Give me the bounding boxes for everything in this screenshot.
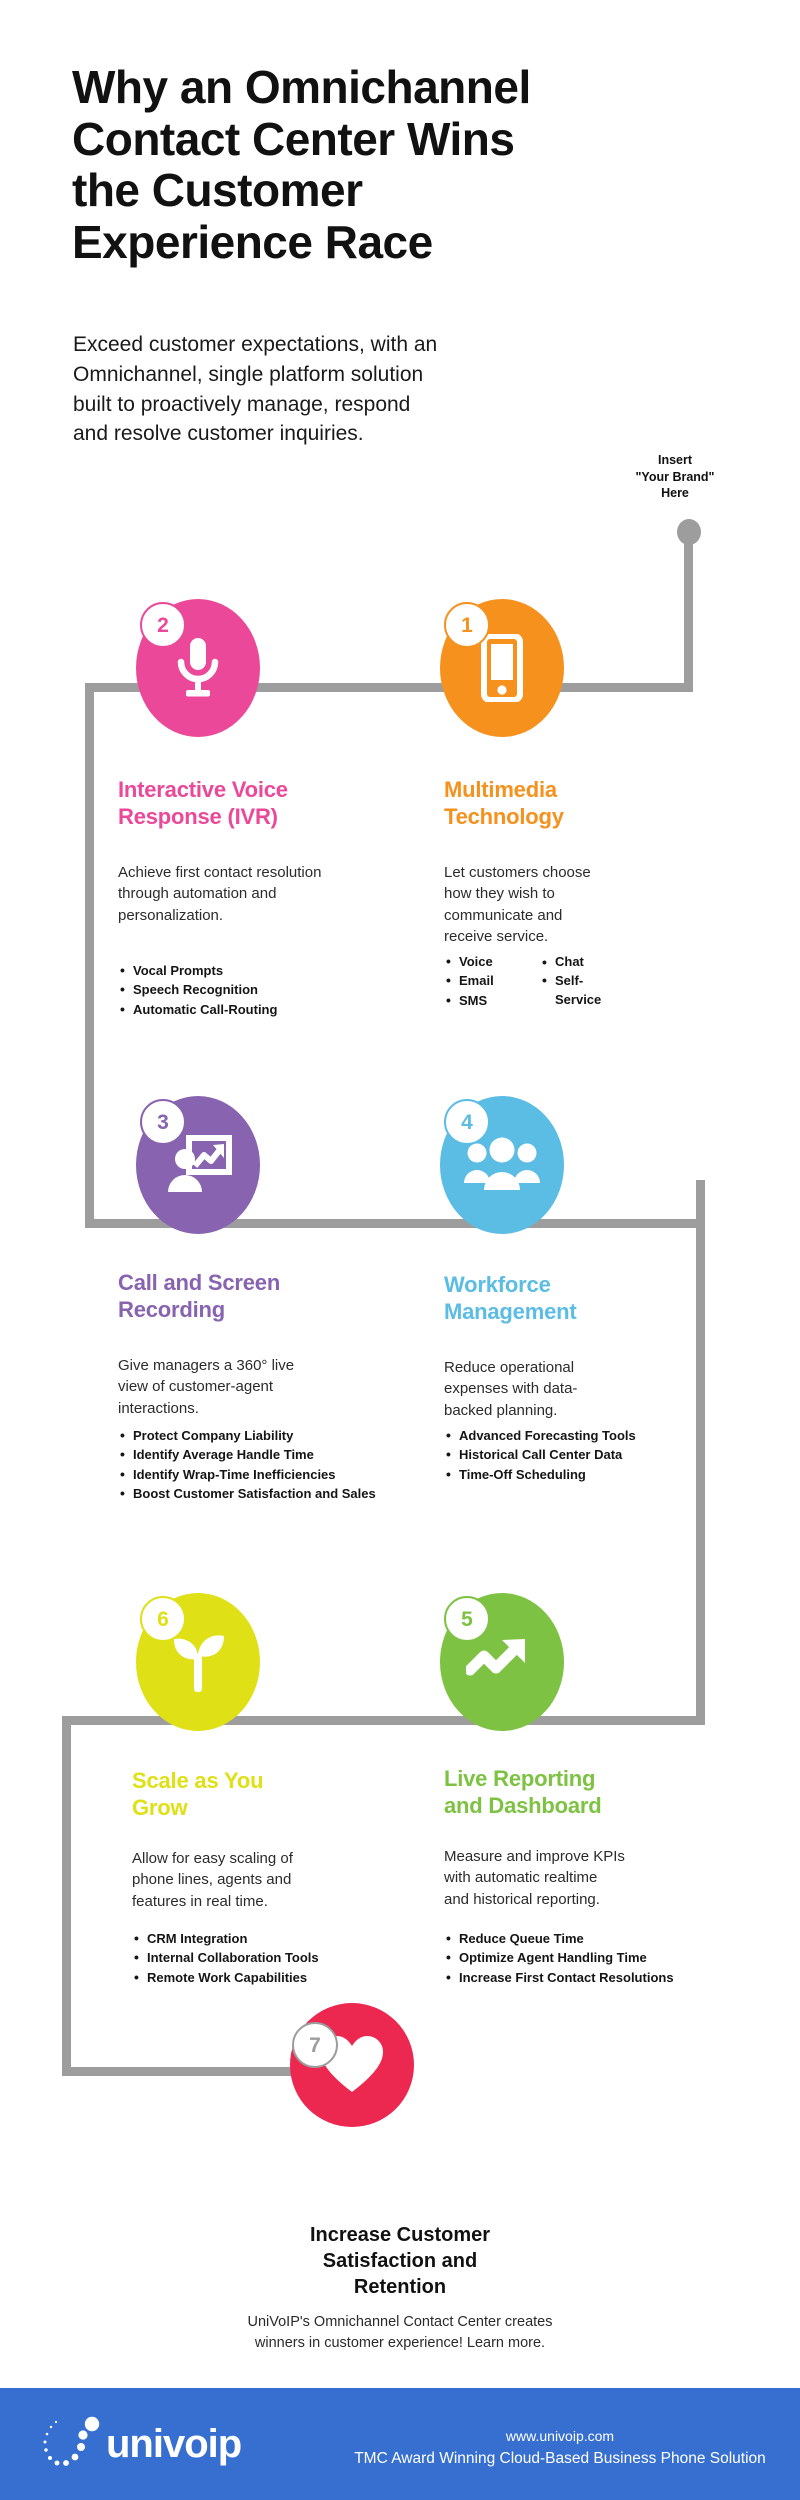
step-number-3: 3 [157, 1112, 169, 1133]
step-body-ivr: Achieve first contact resolution through… [118, 862, 388, 926]
step-badge-1: 1 [444, 602, 490, 648]
list-item: Internal Collaboration Tools [132, 1949, 382, 1967]
list-item: Email [444, 972, 528, 990]
step-badge-3: 3 [140, 1099, 186, 1145]
connector-left-vertical-2 [62, 1716, 71, 2076]
mobile-phone-icon [480, 634, 524, 702]
list-item: Optimize Agent Handling Time [444, 1949, 694, 1967]
step-title-workforce: Workforce Management [444, 1272, 684, 1326]
univoip-logo[interactable]: univoip [42, 2414, 241, 2474]
step-title-multimedia: Multimedia Technology [444, 777, 684, 831]
connector-row3-horizontal [62, 1716, 705, 1725]
step-title-ivr: Interactive Voice Response (IVR) [118, 777, 378, 831]
step-badge-6: 6 [140, 1596, 186, 1642]
step-number-7: 7 [309, 2035, 321, 2056]
step-title-reporting: Live Reporting and Dashboard [444, 1766, 694, 1820]
step-bullets-recording: Protect Company Liability Identify Avera… [118, 1427, 378, 1505]
people-group-icon [463, 1137, 541, 1193]
list-item: Historical Call Center Data [444, 1446, 704, 1464]
list-item: Chat [540, 953, 624, 971]
step-number-6: 6 [157, 1609, 169, 1630]
step-number-1: 1 [461, 615, 473, 636]
microphone-icon [170, 635, 226, 701]
list-item: Self-Service [540, 972, 624, 1009]
list-item: Reduce Queue Time [444, 1930, 694, 1948]
step-number-2: 2 [157, 615, 169, 636]
step-body-workforce: Reduce operational expenses with data- b… [444, 1357, 644, 1421]
final-title: Increase Customer Satisfaction and Reten… [220, 2222, 580, 2300]
step-badge-2: 2 [140, 602, 186, 648]
list-item: Speech Recognition [118, 981, 388, 999]
list-item: Time-Off Scheduling [444, 1466, 704, 1484]
footer-tagline: TMC Award Winning Cloud-Based Business P… [340, 2447, 780, 2470]
step-body-scale: Allow for easy scaling of phone lines, a… [132, 1848, 362, 1912]
connector-brand-vertical [684, 532, 693, 692]
final-badge-7: 7 [292, 2022, 338, 2068]
list-item: Automatic Call-Routing [118, 1001, 388, 1019]
step-number-5: 5 [461, 1609, 473, 1630]
step-number-4: 4 [461, 1112, 473, 1133]
list-item: CRM Integration [132, 1930, 382, 1948]
list-item: Advanced Forecasting Tools [444, 1427, 704, 1445]
brand-placeholder-label: Insert "Your Brand" Here [610, 452, 740, 502]
step-bullets-scale: CRM Integration Internal Collaboration T… [132, 1930, 382, 1988]
page-subtitle: Exceed customer expectations, with an Om… [73, 330, 603, 449]
footer-bar: univoip www.univoip.com TMC Award Winnin… [0, 2388, 800, 2500]
step-body-reporting: Measure and improve KPIs with automatic … [444, 1846, 684, 1910]
step-title-scale: Scale as You Grow [132, 1768, 352, 1822]
list-item: Vocal Prompts [118, 962, 388, 980]
connector-left-vertical-1 [85, 683, 94, 1228]
page-title: Why an Omnichannel Contact Center Wins t… [72, 62, 732, 268]
step-badge-4: 4 [444, 1099, 490, 1145]
step-bullets-workforce: Advanced Forecasting Tools Historical Ca… [444, 1427, 704, 1485]
trend-up-arrow-icon [466, 1637, 538, 1687]
infographic-page: Why an Omnichannel Contact Center Wins t… [0, 0, 800, 2500]
list-item: Protect Company Liability [118, 1427, 378, 1445]
footer-info: www.univoip.com TMC Award Winning Cloud-… [340, 2426, 780, 2470]
step-badge-5: 5 [444, 1596, 490, 1642]
step-bullets-ivr: Vocal Prompts Speech Recognition Automat… [118, 962, 388, 1020]
step-bullets-reporting: Reduce Queue Time Optimize Agent Handlin… [444, 1930, 694, 1988]
list-item: Voice [444, 953, 528, 971]
list-item: SMS [444, 992, 528, 1010]
step-bullets-multimedia: Voice Email SMS Chat Self-Service [444, 953, 624, 1011]
step-body-multimedia: Let customers choose how they wish to co… [444, 862, 644, 948]
list-item: Remote Work Capabilities [132, 1969, 382, 1987]
final-subtitle: UniVoIP's Omnichannel Contact Center cre… [170, 2312, 630, 2354]
list-item: Identify Average Handle Time [118, 1446, 378, 1464]
connector-final-horizontal [62, 2067, 292, 2076]
list-item: Increase First Contact Resolutions [444, 1969, 694, 1987]
univoip-logo-text: univoip [106, 2424, 241, 2464]
step-title-recording: Call and Screen Recording [118, 1270, 368, 1324]
screen-recording-icon [163, 1134, 233, 1196]
step-body-recording: Give managers a 360° live view of custom… [118, 1355, 378, 1419]
list-item: Boost Customer Satisfaction and Sales [118, 1485, 378, 1503]
univoip-swoosh-icon [42, 2415, 104, 2473]
footer-url[interactable]: www.univoip.com [340, 2426, 780, 2447]
list-item: Identify Wrap-Time Inefficiencies [118, 1466, 378, 1484]
